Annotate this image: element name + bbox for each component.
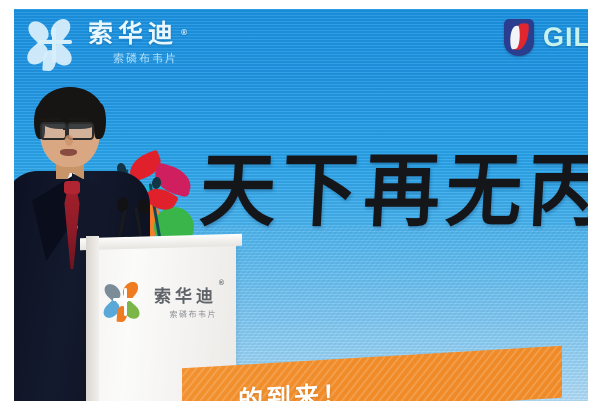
- gilead-shield-icon: [504, 19, 534, 56]
- podium-brand-name: 索华迪®: [154, 282, 217, 307]
- sponsor-logo: GILE: [504, 19, 588, 56]
- pinwheel-petal-icon: [104, 279, 148, 323]
- registered-trademark-icon: ®: [219, 280, 224, 287]
- brand-logo: 索华迪® 索磷布韦片: [26, 13, 178, 73]
- headline-calligraphy: 天下再无丙肝: [198, 146, 588, 235]
- eyeglasses-icon: [40, 122, 67, 140]
- pinwheel-petal-icon: [26, 15, 84, 73]
- photograph: 索华迪® 索磷布韦片 GILE: [14, 9, 588, 401]
- registered-trademark-icon: ®: [181, 20, 187, 46]
- podium-brand-subtitle: 索磷布韦片: [154, 309, 217, 320]
- photo-frame: 索华迪® 索磷布韦片 GILE: [0, 0, 600, 411]
- brand-name: 索华迪®: [88, 21, 178, 47]
- podium-logo: 索华迪® 索磷布韦片: [104, 279, 217, 323]
- brand-subtitle: 索磷布韦片: [88, 50, 178, 66]
- brand-text: 索华迪® 索磷布韦片: [88, 13, 178, 66]
- sponsor-wordmark: GILE: [543, 22, 588, 53]
